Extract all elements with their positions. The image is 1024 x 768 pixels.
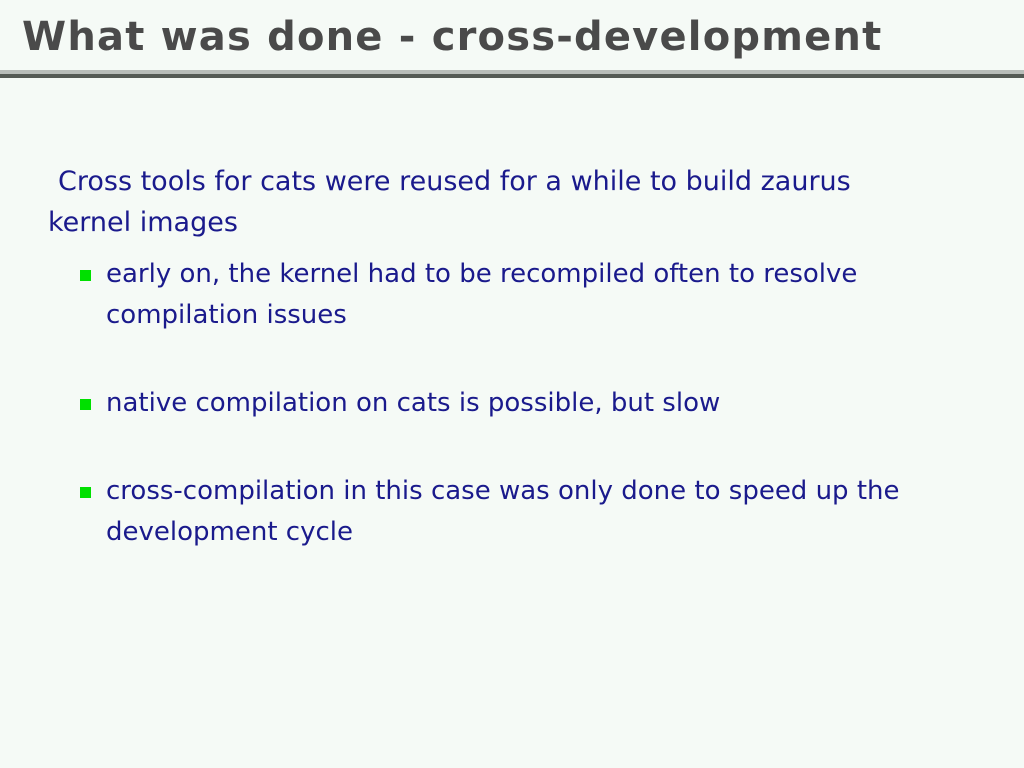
list-item: native compilation on cats is possible, …: [80, 383, 951, 424]
intro-paragraph: Cross tools for cats were reused for a w…: [48, 161, 938, 243]
list-item-label: cross-compilation in this case was only …: [106, 471, 951, 553]
square-bullet-icon: [80, 487, 91, 498]
bullet-list: early on, the kernel had to be recompile…: [80, 254, 980, 553]
page-title: What was done - cross-development: [22, 12, 1002, 62]
square-bullet-icon: [80, 399, 91, 410]
list-item: cross-compilation in this case was only …: [80, 471, 951, 553]
list-item: early on, the kernel had to be recompile…: [80, 254, 951, 336]
title-divider: [0, 70, 1024, 78]
list-item-label: native compilation on cats is possible, …: [106, 383, 951, 424]
presentation-slide: What was done - cross-development Cross …: [0, 0, 1024, 768]
square-bullet-icon: [80, 270, 91, 281]
divider-dark-band: [0, 74, 1024, 78]
list-item-label: early on, the kernel had to be recompile…: [106, 254, 951, 336]
